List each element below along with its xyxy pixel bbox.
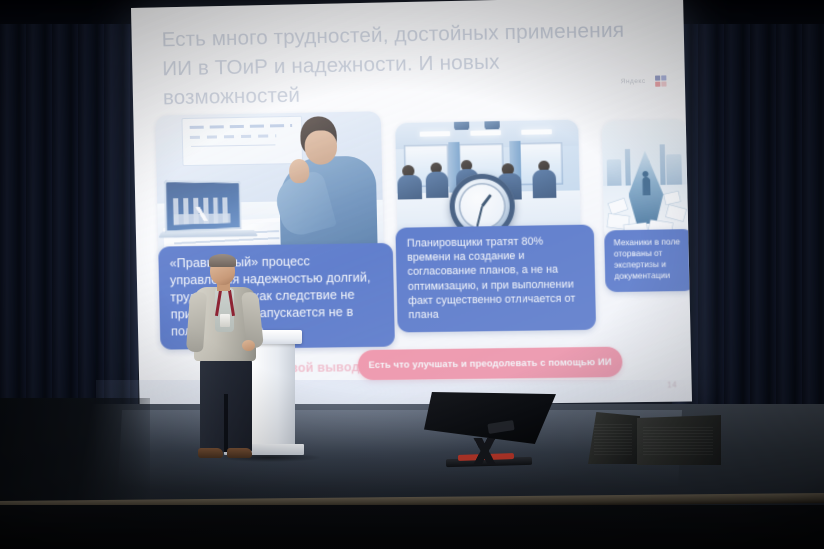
stage-scene: Есть много трудностей, достойных примене… (0, 0, 824, 549)
card-1-photo (155, 111, 384, 265)
card-2-photo (395, 120, 581, 242)
stage-shadow-left (0, 398, 150, 508)
card-2-text: Планировщики тратят 80% времени на созда… (395, 225, 596, 333)
stage-front-face (0, 505, 824, 549)
card-3-photo (602, 120, 690, 243)
brand-mark-icon (655, 75, 667, 87)
whiteboard (181, 116, 303, 166)
slide-page-number: 14 (667, 380, 677, 389)
stage-monitor-speaker-2 (637, 415, 721, 465)
slide-title: Есть много трудностей, достойных примене… (161, 15, 639, 113)
brand-logo: Яндекс (621, 75, 667, 87)
stage-curtain-left (0, 0, 138, 432)
brand-wordmark: Яндекс (621, 78, 646, 86)
slide-card-1: «Правильный» процесс управления надежнос… (155, 111, 384, 265)
confidence-monitor (424, 392, 570, 478)
stage-monitor-speaker-1 (588, 412, 640, 464)
laptop-icon (164, 180, 241, 232)
slide-card-2: Планировщики тратят 80% времени на созда… (395, 120, 581, 242)
speaker-person (186, 256, 278, 466)
conclusion-banner: Есть что улучшать и преодолевать с помощ… (358, 347, 623, 381)
stage-curtain-right (672, 0, 824, 432)
badge (220, 314, 230, 327)
slide-card-3: Механики в поле оторваны от экспертизы и… (602, 120, 690, 243)
card-3-text: Механики в поле оторваны от экспертизы и… (604, 229, 692, 292)
